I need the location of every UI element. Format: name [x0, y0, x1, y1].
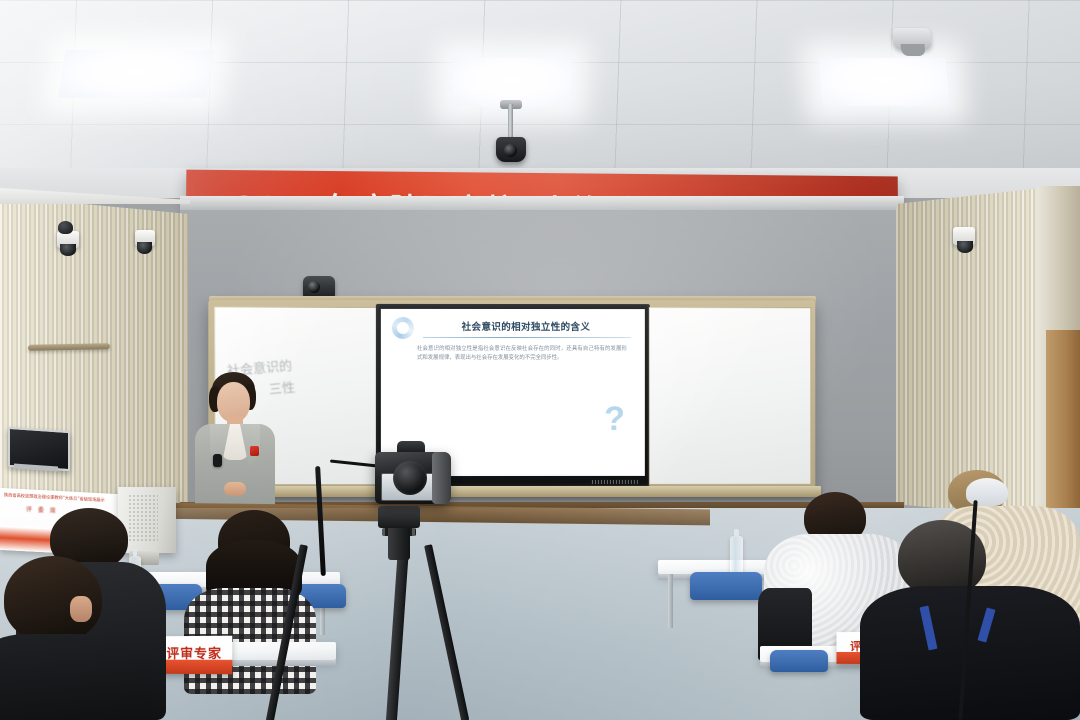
camera-lens-icon — [393, 461, 427, 495]
classroom-photo-scene: 2023年度陕西高校“大练兵”省级现场展示 社会意识的 三性 — [0, 0, 1080, 720]
camera-dome — [60, 244, 76, 256]
slide-logo-icon — [392, 317, 414, 339]
camera-dome — [957, 241, 973, 253]
audience-chair — [690, 572, 762, 600]
camera-grip — [432, 452, 451, 504]
wall-security-camera-icon — [135, 230, 155, 246]
presenter-badge — [250, 446, 259, 456]
display-brand-label — [592, 480, 638, 484]
ceiling-panel-light — [58, 50, 214, 98]
namecard-text: 评审专家 — [157, 643, 232, 662]
wall-security-camera-icon — [57, 231, 79, 248]
audience-chair — [770, 650, 828, 672]
slide-title: 社会意识的相对独立性的含义 — [421, 319, 631, 333]
audience-ear — [70, 596, 92, 622]
slide-body-text: 社会意识的相对独立性是指社会意识在反映社会存在的同时，还具有自己特有的发展形式和… — [417, 345, 627, 364]
presenter-hands — [224, 482, 246, 496]
audience-mask — [966, 478, 1008, 506]
tripod-head[interactable] — [378, 506, 420, 528]
whiteboard-marker-tray — [204, 486, 821, 497]
presenter — [188, 366, 282, 512]
clip-microphone-icon — [213, 454, 222, 467]
wall-security-camera-icon — [953, 227, 975, 245]
poster-headline: 陕西省高校思想政治理论课教师“大练兵”省级现场展示 — [4, 492, 114, 504]
namecard-front-left: 评审专家 — [157, 636, 232, 675]
desk-leg — [668, 574, 673, 628]
ptz-conference-camera-icon — [303, 276, 335, 298]
slide-title-divider — [423, 337, 631, 338]
whiteboard-assembly: 社会意识的 三性 社会意识的相对独立性的含义 社会意识的相对独立性是指社会意识在… — [208, 300, 815, 490]
question-mark-icon: ? — [604, 402, 625, 436]
smoke-detector-icon — [892, 28, 932, 50]
audience-jacket — [0, 634, 152, 720]
audience-member-foreground — [0, 556, 142, 720]
water-bottle — [730, 536, 743, 576]
whiteboard-right-wing[interactable] — [649, 307, 811, 485]
ceiling-panel-light — [818, 58, 950, 106]
camera-dome — [137, 242, 152, 254]
ceiling-panel-light — [451, 58, 573, 106]
ceiling-camera-icon — [496, 137, 526, 162]
left-wall-shading — [0, 196, 188, 526]
